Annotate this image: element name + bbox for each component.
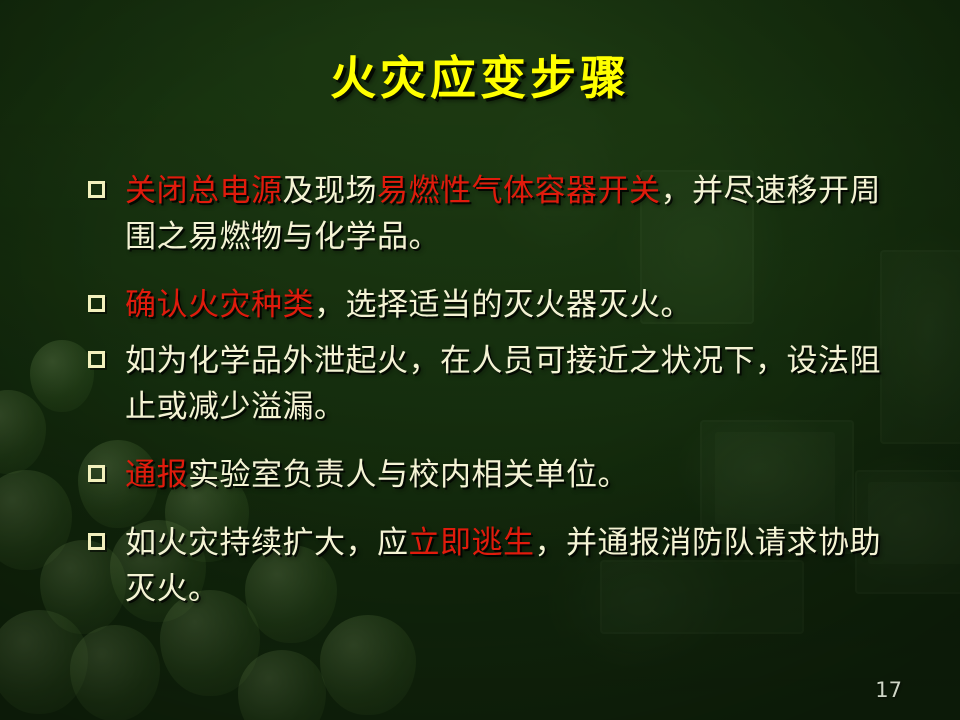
hollow-square-bullet-icon [88,465,105,482]
list-item: 如为化学品外泄起火，在人员可接近之状况下，设法阻止或减少溢漏。 [88,338,888,430]
bullet-1-segment-2: 及现场 [283,173,378,209]
list-item: 通报实验室负责人与校内相关单位。 [88,452,888,498]
hollow-square-bullet-icon [88,533,105,550]
bullet-5-segment-1: 如火灾持续扩大，应 [125,525,409,561]
bullet-item-1-text: 关闭总电源及现场易燃性气体容器开关，并尽速移开周围之易燃物与化学品。 [125,168,888,260]
bullet-3-segment-1: 如为化学品外泄起火，在人员可接近之状况下，设法阻止或减少溢漏。 [125,343,881,425]
bullet-item-5-text: 如火灾持续扩大，应立即逃生，并通报消防队请求协助灭火。 [125,520,888,612]
bullet-4-segment-2: 实验室负责人与校内相关单位。 [188,457,629,493]
bullet-item-3-text: 如为化学品外泄起火，在人员可接近之状况下，设法阻止或减少溢漏。 [125,338,888,430]
bullet-2-segment-2: ，选择适当的灭火器灭火。 [314,287,692,323]
page-title: 火灾应变步骤 [0,42,960,108]
bullet-4-segment-1: 通报 [125,457,188,493]
bullet-item-4-text: 通报实验室负责人与校内相关单位。 [125,452,888,498]
bullet-item-2-text: 确认火灾种类，选择适当的灭火器灭火。 [125,282,888,328]
page-number: 17 [875,678,902,702]
hollow-square-bullet-icon [88,181,105,198]
bullet-1-segment-1: 关闭总电源 [125,173,283,209]
list-item: 确认火灾种类，选择适当的灭火器灭火。 [88,282,888,328]
bullet-1-segment-3: 易燃性气体容器开关 [377,173,661,209]
hollow-square-bullet-icon [88,295,105,312]
list-item: 关闭总电源及现场易燃性气体容器开关，并尽速移开周围之易燃物与化学品。 [88,168,888,260]
presentation-slide: 火灾应变步骤 关闭总电源及现场易燃性气体容器开关，并尽速移开周围之易燃物与化学品… [0,0,960,720]
bullet-5-segment-2: 立即逃生 [409,525,535,561]
list-item: 如火灾持续扩大，应立即逃生，并通报消防队请求协助灭火。 [88,520,888,612]
bullet-list: 关闭总电源及现场易燃性气体容器开关，并尽速移开周围之易燃物与化学品。 确认火灾种… [88,168,888,626]
bullet-2-segment-1: 确认火灾种类 [125,287,314,323]
hollow-square-bullet-icon [88,351,105,368]
